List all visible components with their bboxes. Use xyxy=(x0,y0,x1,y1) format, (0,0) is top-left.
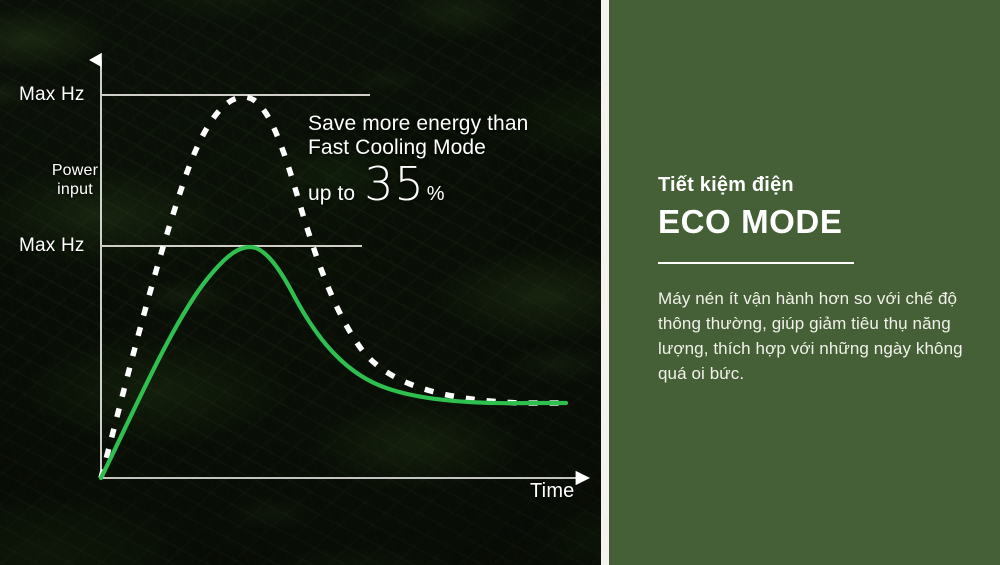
y-axis-title-line1: Power xyxy=(38,161,112,180)
callout-line-2: Fast Cooling Mode xyxy=(308,136,568,160)
description-panel: Tiết kiệm điện ECO MODE Máy nén ít vận h… xyxy=(609,0,1000,565)
eco-mode-infographic: Max Hz Max Hz Power input Time Save more… xyxy=(0,0,1000,565)
savings-callout: Save more energy than Fast Cooling Mode … xyxy=(308,112,568,206)
callout-percent-row: up to 35 % xyxy=(308,164,568,206)
callout-up-to: up to xyxy=(308,182,355,206)
y-label-max-hz-top: Max Hz xyxy=(19,84,85,106)
panel-kicker: Tiết kiệm điện xyxy=(658,174,973,197)
callout-line-1: Save more energy than xyxy=(308,112,568,136)
y-axis-title: Power input xyxy=(38,161,112,199)
callout-percent-unit: % xyxy=(427,183,445,206)
power-vs-time-chart xyxy=(0,0,601,565)
chart-panel: Max Hz Max Hz Power input Time Save more… xyxy=(0,0,601,565)
y-label-max-hz-bottom: Max Hz xyxy=(19,235,85,257)
callout-percent-value: 35 xyxy=(364,164,425,204)
curve-eco-mode xyxy=(101,247,566,478)
panel-divider xyxy=(601,0,609,565)
x-axis-title: Time xyxy=(530,480,575,503)
description-content: Tiết kiệm điện ECO MODE Máy nén ít vận h… xyxy=(658,174,973,386)
headline-divider xyxy=(658,262,854,264)
panel-body-text: Máy nén ít vận hành hơn so với chế độ th… xyxy=(658,286,973,386)
panel-headline: ECO MODE xyxy=(658,203,973,241)
y-axis-title-line2: input xyxy=(38,180,112,199)
